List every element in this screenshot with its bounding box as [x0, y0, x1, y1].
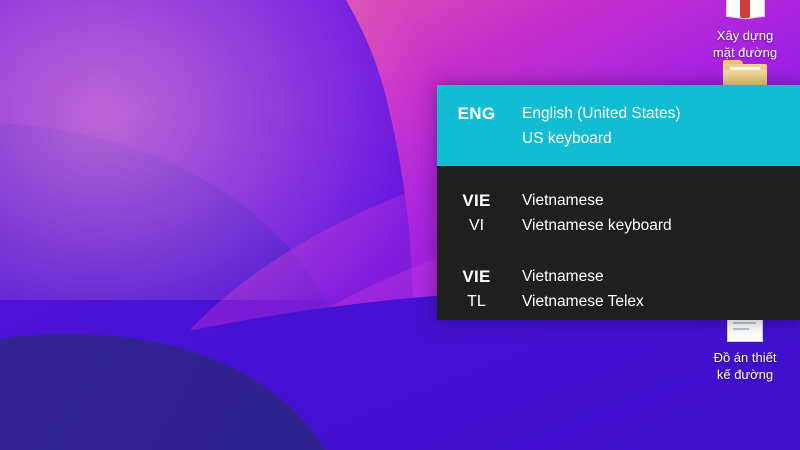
language-code-main: ENG: [437, 101, 516, 126]
language-option-vie-vi[interactable]: VIE VI Vietnamese Vietnamese keyboard: [437, 166, 800, 242]
language-code-sub: VI: [437, 213, 516, 238]
desktop-icon-label-line1: Đồ án thiết: [714, 350, 777, 365]
language-switcher-flyout[interactable]: ENG English (United States) US keyboard …: [437, 85, 800, 320]
language-name-main: English (United States): [522, 101, 800, 126]
language-code-main: VIE: [437, 188, 516, 213]
language-name-sub: US keyboard: [522, 126, 800, 151]
language-code-group: VIE TL: [437, 264, 516, 314]
wallpaper-glow: [0, 0, 440, 300]
desktop-screen: Xây dựng mặt đường Đồ án thiết kế đường: [0, 0, 800, 450]
language-code-sub: TL: [437, 289, 516, 314]
language-code-group: VIE VI: [437, 188, 516, 238]
language-name-sub: Vietnamese keyboard: [522, 213, 800, 238]
language-name-main: Vietnamese: [522, 188, 800, 213]
language-name-group: Vietnamese Vietnamese Telex: [516, 264, 800, 314]
wallpaper-wave-left-lower: [0, 63, 410, 450]
language-name-sub: Vietnamese Telex: [522, 289, 800, 314]
language-code-main: VIE: [437, 264, 516, 289]
desktop-icon-label-line1: Xây dựng: [717, 28, 773, 43]
desktop-icon-xay-dung-mat-duong[interactable]: Xây dựng mặt đường: [690, 0, 800, 61]
language-option-eng[interactable]: ENG English (United States) US keyboard: [437, 85, 800, 166]
language-option-vie-tl[interactable]: VIE TL Vietnamese Vietnamese Telex: [437, 242, 800, 320]
book-icon: [690, 0, 800, 24]
language-name-group: English (United States) US keyboard: [516, 101, 800, 151]
language-code-group: ENG: [437, 101, 516, 126]
language-name-main: Vietnamese: [522, 264, 800, 289]
wallpaper-dark-corner: [0, 233, 393, 450]
desktop-icon-label-line2: kế đường: [717, 367, 773, 382]
language-name-group: Vietnamese Vietnamese keyboard: [516, 188, 800, 238]
